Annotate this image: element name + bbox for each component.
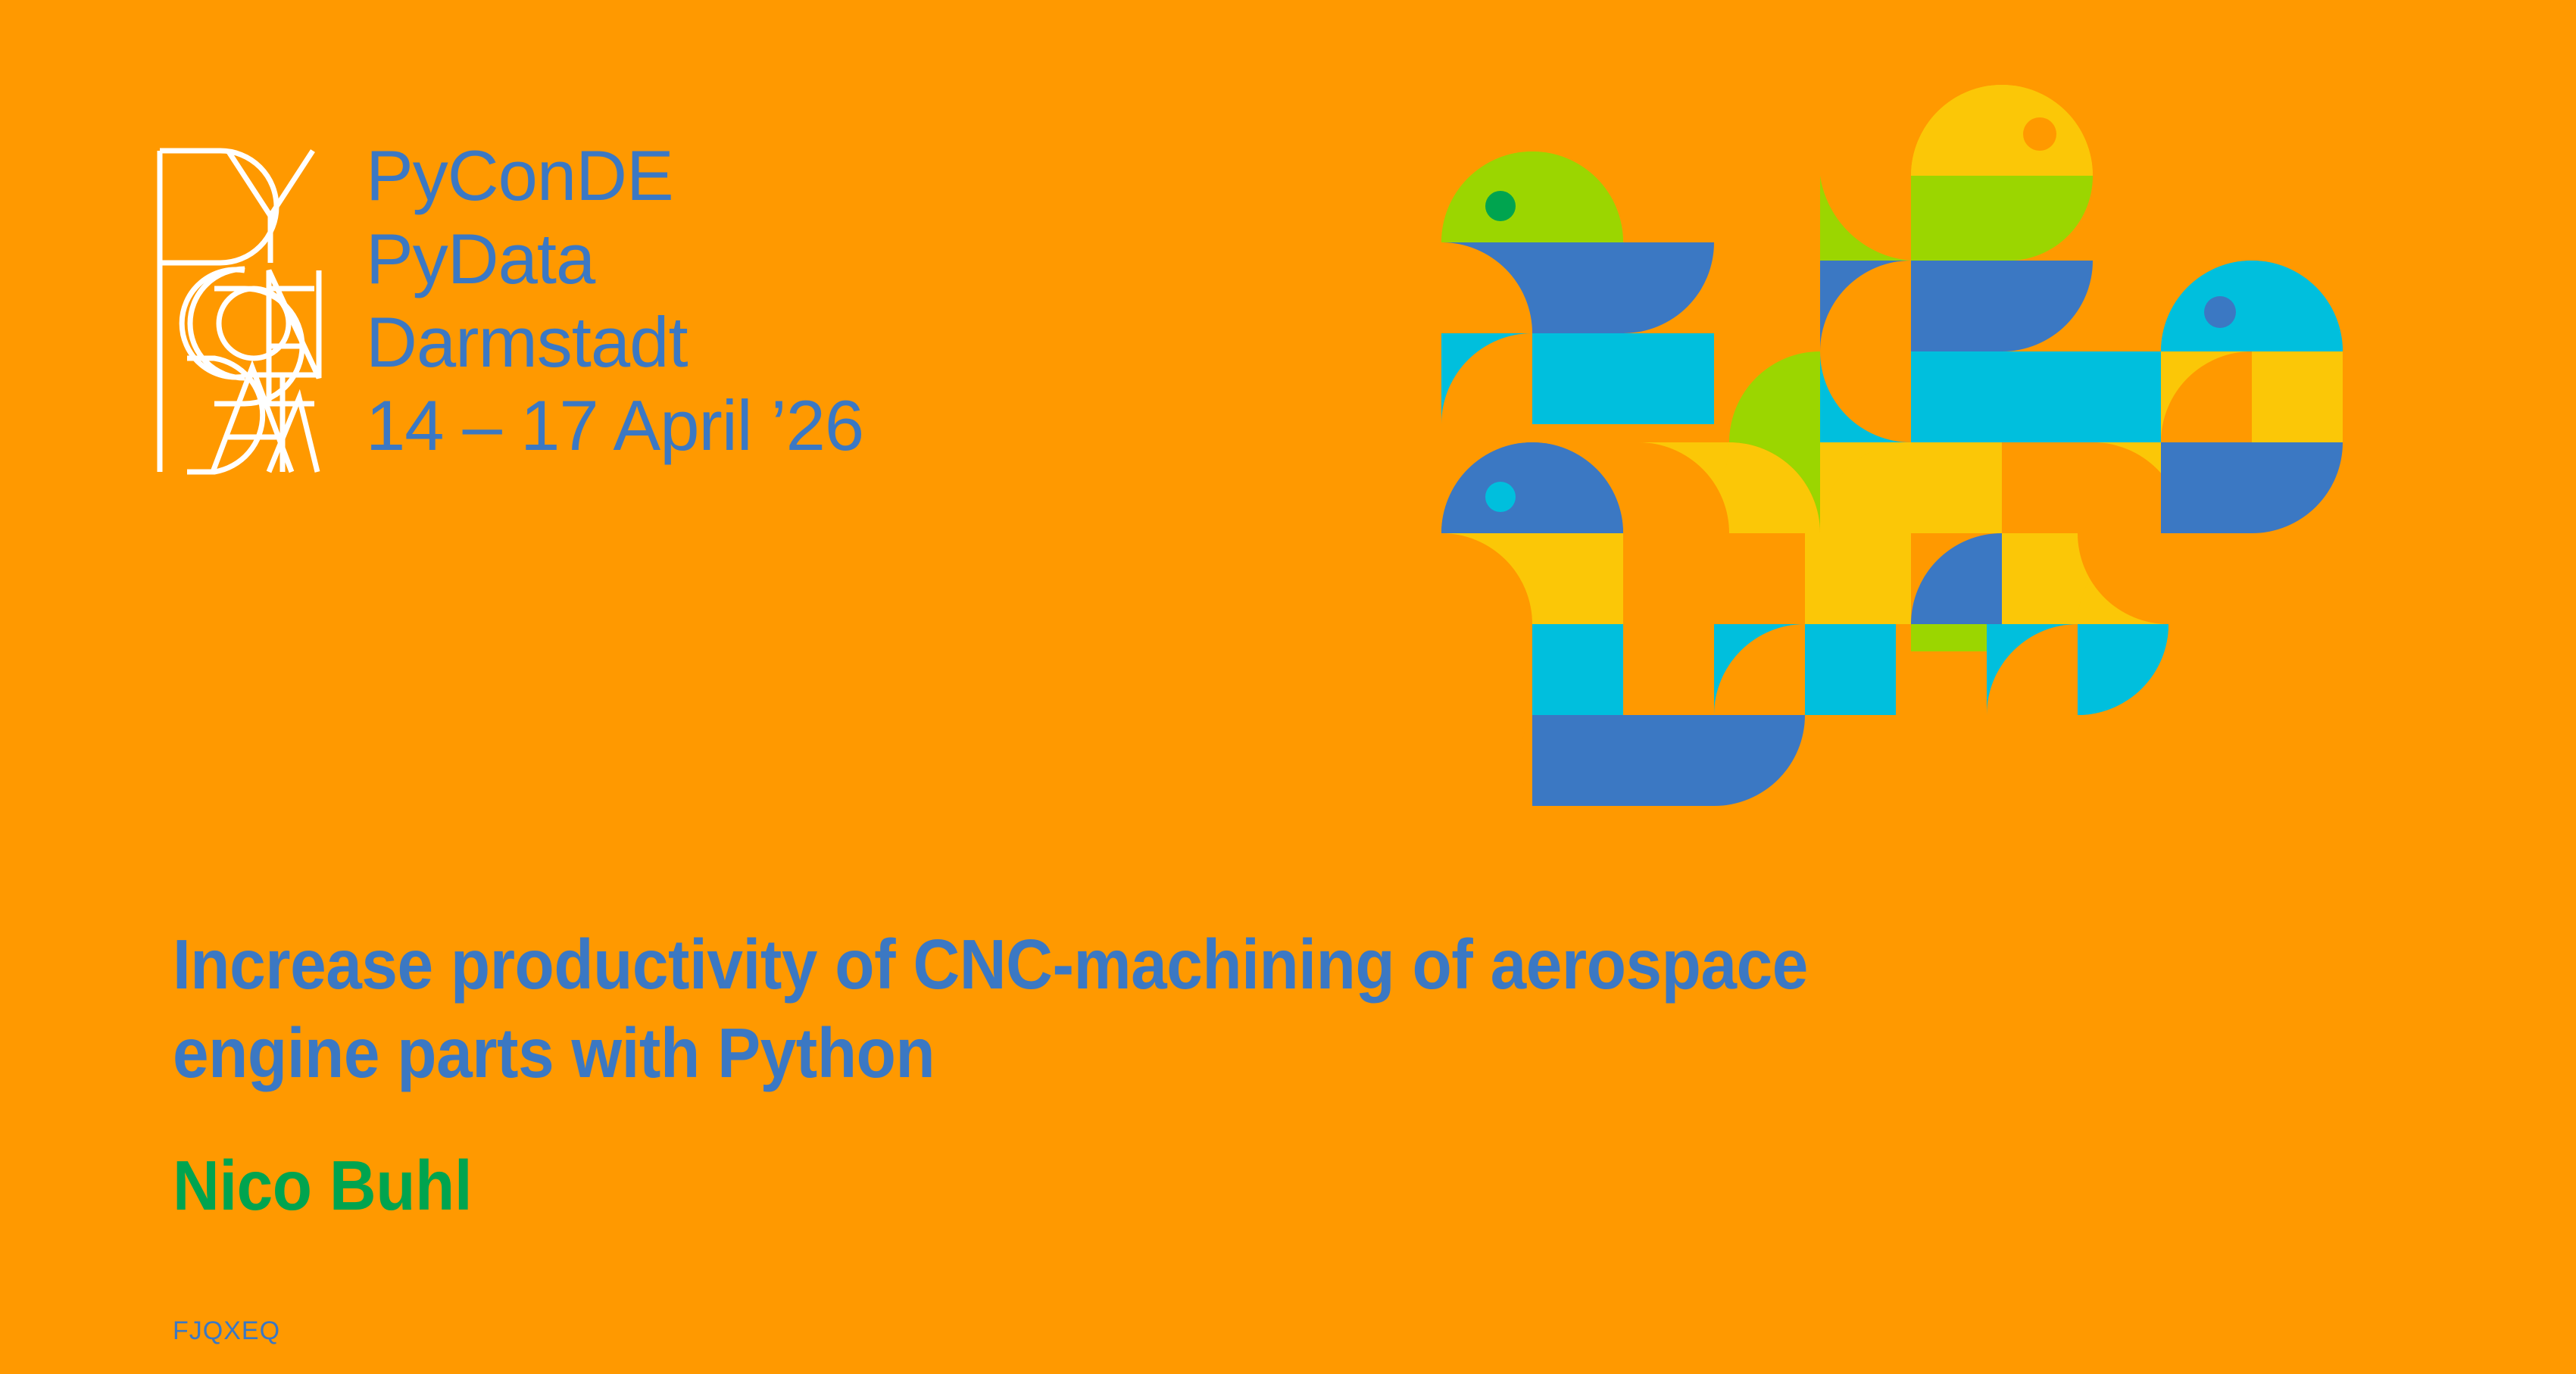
page-title: Increase productivity of CNC-machining o… bbox=[173, 920, 2194, 1098]
brand-line-dates: 14 – 17 April ’26 bbox=[366, 384, 863, 467]
slide-root: PyConDE PyData Darmstadt 14 – 17 April ’… bbox=[0, 0, 2576, 1374]
brand-line-pydata: PyData bbox=[366, 217, 863, 301]
talk-title-line-1: Increase productivity of CNC-machining o… bbox=[173, 925, 1808, 1004]
brand-header: PyConDE PyData Darmstadt 14 – 17 April ’… bbox=[155, 148, 863, 475]
pyconde-pydata-logo-icon bbox=[155, 148, 323, 475]
talk-title-line-2: engine parts with Python bbox=[173, 1013, 935, 1092]
session-code: FJQXEQ bbox=[173, 1316, 280, 1346]
brand-text-block: PyConDE PyData Darmstadt 14 – 17 April ’… bbox=[366, 134, 863, 467]
speaker-name: Nico Buhl bbox=[173, 1098, 2194, 1223]
geometric-birds-illustration bbox=[1434, 55, 2349, 818]
talk-title-block: Increase productivity of CNC-machining o… bbox=[173, 920, 2369, 1223]
brand-line-city: Darmstadt bbox=[366, 301, 863, 384]
brand-line-pyconde: PyConDE bbox=[366, 134, 863, 217]
